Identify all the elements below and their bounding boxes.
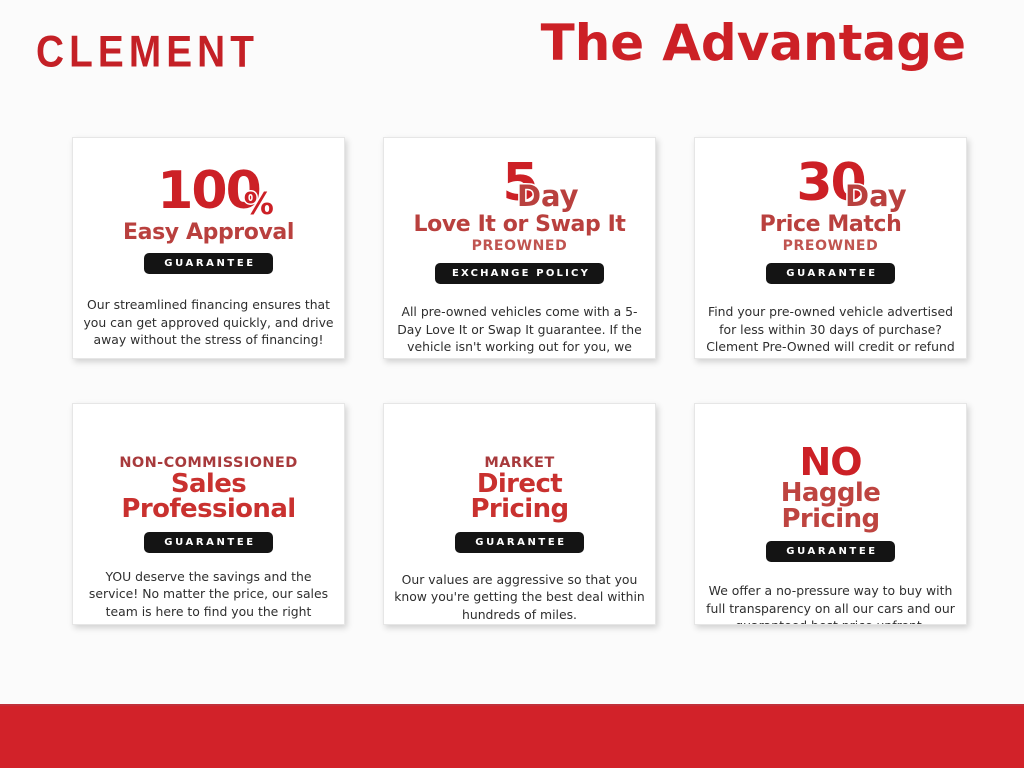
guarantee-badge: GUARANTEE [455,532,583,553]
headline-lockup-30-day: 30 Day [796,160,864,208]
card-body-text: All pre-owned vehicles come with a 5-Day… [394,303,645,359]
guarantee-badge: GUARANTEE [144,532,272,553]
advantage-card-market-direct-pricing[interactable]: MARKET Direct Pricing GUARANTEE Our valu… [383,403,656,625]
guarantee-badge: GUARANTEE [766,541,894,562]
exchange-policy-badge: EXCHANGE POLICY [435,263,604,284]
advantage-card-price-match[interactable]: 30 Day Price Match PREOWNED GUARANTEE Fi… [694,137,967,359]
headline-text: Easy Approval [123,221,294,244]
page-title: TheAdvantage [541,18,966,68]
headline-text: Love It or Swap It [414,213,626,236]
card-headline-block: NO Haggle Pricing GUARANTEE [705,444,956,562]
card-headline-block: MARKET Direct Pricing GUARANTEE [394,456,645,553]
headline-line-1: Haggle [781,481,880,506]
headline-day-word: Day [517,182,579,211]
headline-text: Price Match [760,213,902,236]
card-body-text: YOU deserve the savings and the service!… [83,568,334,625]
card-headline-block: NON-COMMISSIONED Sales Professional GUAR… [83,456,334,553]
advantage-card-easy-approval[interactable]: 100 % Easy Approval GUARANTEE Our stream… [72,137,345,359]
card-body-text: Our values are aggressive so that you kn… [394,571,645,624]
headline-line-2: Pricing [781,507,879,532]
advantage-card-no-haggle-pricing[interactable]: NO Haggle Pricing GUARANTEE We offer a n… [694,403,967,625]
card-body-text: Find your pre-owned vehicle advertised f… [705,303,956,359]
guarantee-badge: GUARANTEE [144,253,272,274]
headline-lockup-100-percent: 100 % [157,168,260,216]
card-headline-block: 100 % Easy Approval GUARANTEE [83,168,334,274]
page-header: CLEMENT TheAdvantage [0,0,1024,110]
headline-lockup-5-day: 5 Day [502,160,536,208]
card-body-text: We offer a no-pressure way to buy with f… [705,582,956,625]
clement-logo: CLEMENT [36,30,259,75]
headline-eyebrow: NO [799,444,861,481]
page-title-word-advantage: Advantage [662,14,966,72]
advantage-card-non-commissioned-sales[interactable]: NON-COMMISSIONED Sales Professional GUAR… [72,403,345,625]
headline-line-2: Pricing [470,497,568,522]
card-headline-block: 30 Day Price Match PREOWNED GUARANTEE [705,160,956,284]
headline-percent-symbol: % [244,190,274,220]
advantage-card-love-it-or-swap-it[interactable]: 5 Day Love It or Swap It PREOWNED EXCHAN… [383,137,656,359]
headline-line-2: Professional [121,497,295,522]
footer-red-bar [0,704,1024,768]
page-title-word-the: The [541,14,645,72]
card-body-text: Our streamlined financing ensures that y… [83,296,334,349]
guarantee-badge: GUARANTEE [766,263,894,284]
card-headline-block: 5 Day Love It or Swap It PREOWNED EXCHAN… [394,160,645,284]
advantage-cards-grid: 100 % Easy Approval GUARANTEE Our stream… [72,137,970,625]
headline-day-word: Day [845,182,907,211]
headline-subtext: PREOWNED [472,238,568,254]
headline-subtext: PREOWNED [783,238,879,254]
